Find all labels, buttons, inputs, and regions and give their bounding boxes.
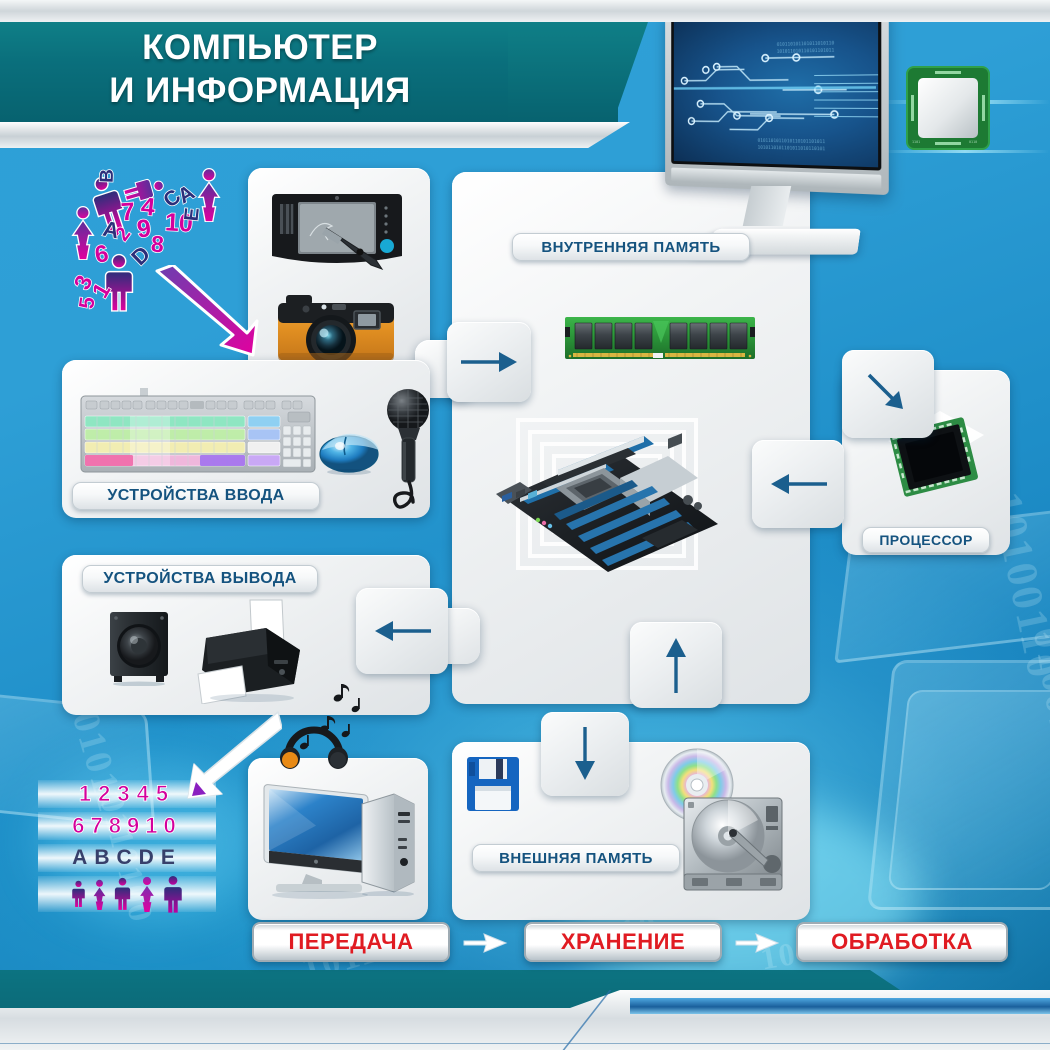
- arrow-left-icon: [371, 618, 433, 644]
- process-step-transmission[interactable]: ПЕРЕДАЧА: [252, 922, 450, 962]
- motherboard-icon: [492, 420, 722, 576]
- hard-drive-icon: [680, 790, 792, 898]
- processor-label: ПРОЦЕССОР: [862, 527, 990, 553]
- arrow-down-to-external-memory[interactable]: [541, 712, 629, 796]
- input-devices-label: УСТРОЙСТВА ВВОДА: [72, 482, 320, 510]
- arrow-left-processor-to-memory[interactable]: [752, 440, 844, 528]
- page-title: КОМПЬЮТЕР И ИНФОРМАЦИЯ: [0, 26, 520, 112]
- bg-binary-2: 01001101: [1024, 624, 1050, 803]
- output-info-cell: E: [161, 846, 182, 870]
- graphics-tablet-icon: [272, 190, 402, 272]
- arrow-left-memory-to-output[interactable]: [356, 588, 448, 674]
- mouse-icon: [318, 428, 380, 476]
- info-glyph-number: 7: [120, 198, 136, 228]
- header-teal-band-tail: [508, 22, 648, 122]
- speaker-icon: [108, 608, 170, 686]
- music-notes-icon: [299, 684, 360, 750]
- footer-hairline: [0, 1043, 1050, 1044]
- person-figure: [90, 879, 109, 910]
- output-info-cell: 1: [79, 781, 98, 807]
- process-step-storage[interactable]: ХРАНЕНИЕ: [524, 922, 722, 962]
- person-figure: [161, 875, 185, 914]
- white-arrow-down-left-icon: [178, 710, 282, 800]
- output-info-cell: C: [116, 846, 138, 870]
- output-info-row: A B C D E: [38, 844, 216, 872]
- output-info-cell: 9: [127, 813, 145, 839]
- header-silver-bottom-tail: [520, 122, 630, 148]
- magenta-arrow-down-right-icon: [153, 265, 261, 357]
- info-glyph-letter: E: [181, 207, 205, 223]
- process-step-processing[interactable]: ОБРАБОТКА: [796, 922, 1008, 962]
- output-info-cell: 8: [109, 813, 127, 839]
- floppy-disk-icon: [466, 756, 520, 812]
- page-title-line-1: КОМПЬЮТЕР: [0, 26, 520, 69]
- digital-camera-icon: [276, 285, 396, 367]
- arrow-right-input-to-memory[interactable]: [447, 322, 531, 402]
- external-memory-label: ВНЕШНЯЯ ПАМЯТЬ: [472, 844, 680, 872]
- arrow-right-icon: [459, 349, 519, 375]
- output-devices-label: УСТРОЙСТВА ВЫВОДА: [82, 565, 318, 593]
- page-title-line-2: И ИНФОРМАЦИЯ: [0, 69, 520, 112]
- bg-ghost-tablet: [867, 660, 1050, 910]
- internal-memory-label: ВНУТРЕННЯЯ ПАМЯТЬ: [512, 233, 750, 261]
- arrow-down-right-icon: [863, 369, 913, 419]
- output-info-cell: D: [139, 846, 161, 870]
- system-unit-icon: [358, 790, 418, 896]
- header-silver-bottom-strip: [0, 122, 560, 148]
- output-info-cell: B: [94, 846, 116, 870]
- arrow-up-from-external-memory[interactable]: [630, 622, 722, 708]
- arrow-left-icon: [767, 471, 829, 497]
- poster-root: 10100110 01001101 1001011 0110100 101101…: [0, 0, 1050, 1050]
- output-info-cell: 2: [98, 781, 117, 807]
- arrow-down-right-to-processor[interactable]: [842, 350, 934, 438]
- headphones-icon: [280, 680, 376, 770]
- monitor-stand-neck: [743, 186, 792, 226]
- arrow-down-icon: [572, 725, 598, 783]
- process-connector-arrow-1: [462, 930, 510, 956]
- input-info-cloud: 7 4 10 9 8 6 3 1 5 2 A B C D E A: [65, 165, 255, 345]
- keyboard-icon: [80, 388, 316, 476]
- info-glyph-number: 8: [150, 231, 165, 259]
- header-silver-top-strip: [0, 0, 1050, 22]
- info-glyph-number: 5: [75, 296, 100, 311]
- output-info-row: 6 7 8 9 10: [38, 812, 216, 840]
- bg-ghost-tablet-inner: [887, 690, 1050, 890]
- info-glyph-number: 9: [136, 214, 153, 244]
- ram-module-icon: [565, 313, 755, 363]
- person-figure: [112, 877, 133, 911]
- microphone-icon: [376, 384, 444, 524]
- output-info-people-row: [38, 876, 216, 912]
- info-glyph-number: 6: [93, 240, 111, 270]
- person-figure: [70, 880, 87, 908]
- output-info-cell: 3: [117, 781, 136, 807]
- arrow-up-icon: [663, 635, 689, 695]
- output-info-cell: 5: [156, 781, 175, 807]
- process-connector-arrow-2: [734, 930, 782, 956]
- output-info-cell: 10: [145, 813, 181, 839]
- footer-blue-strip: [630, 998, 1050, 1014]
- output-info-cell: 7: [91, 813, 109, 839]
- output-info-cell: 4: [137, 781, 156, 807]
- output-info-cell: 6: [72, 813, 90, 839]
- poster-header: КОМПЬЮТЕР И ИНФОРМАЦИЯ: [0, 0, 1050, 150]
- info-glyph-letter: B: [97, 169, 119, 183]
- output-info-cell: A: [72, 846, 94, 870]
- person-figure: [136, 876, 158, 912]
